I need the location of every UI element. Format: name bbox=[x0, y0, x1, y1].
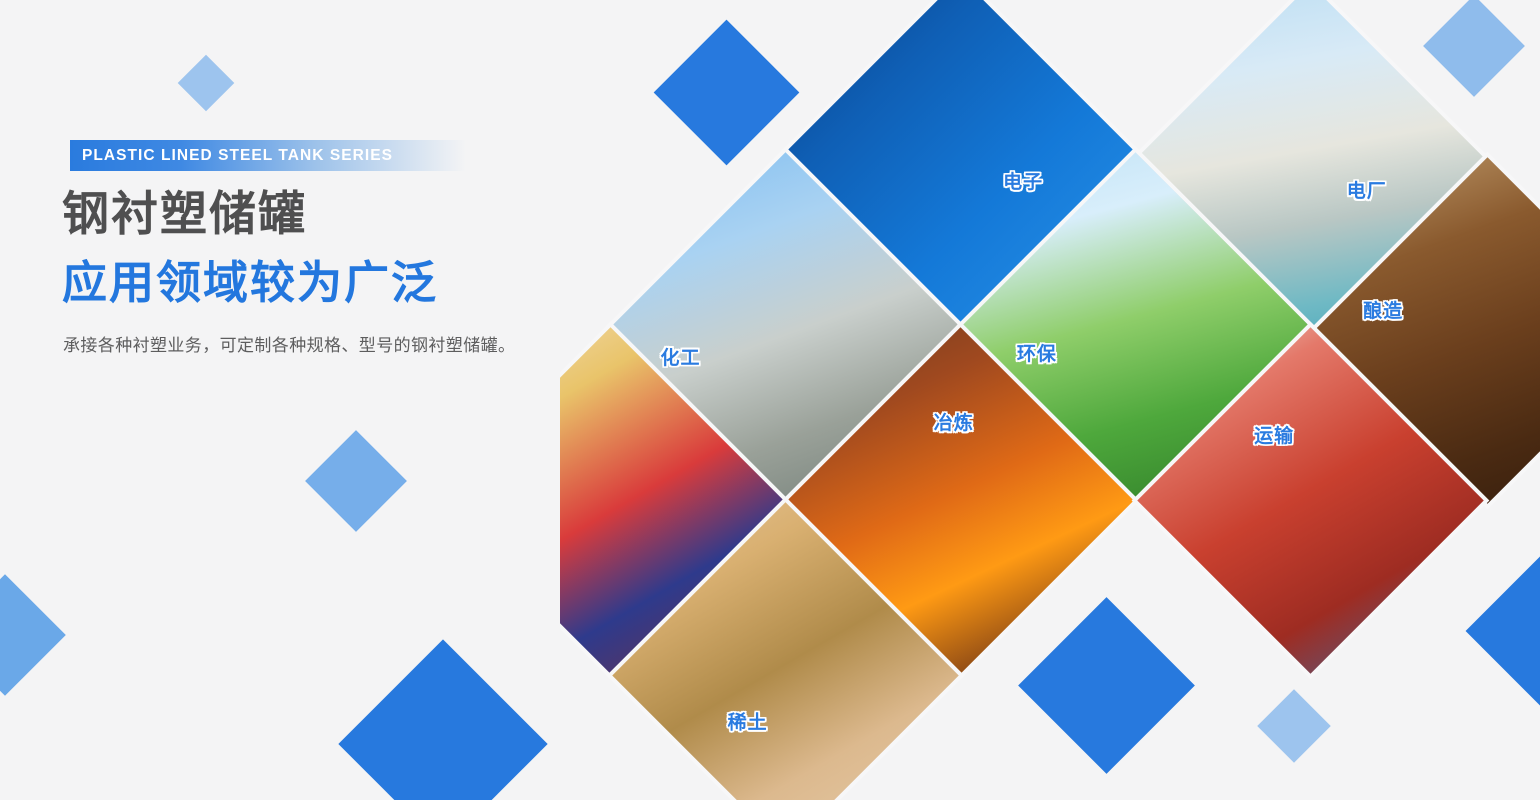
mosaic-tile-label-electronics: 电子 bbox=[1003, 167, 1043, 194]
mosaic-tile-label-environment: 环保 bbox=[1017, 339, 1057, 366]
mosaic-tile-label-transport: 运输 bbox=[1254, 421, 1294, 448]
headline-secondary: 应用领域较为广泛 bbox=[62, 258, 438, 308]
mosaic-tile-label-chemical: 化工 bbox=[660, 343, 700, 370]
mosaic-tile-label-smelting: 冶炼 bbox=[934, 408, 974, 435]
banner-stage: 电子化工电厂酿造环保冶炼制药稀土运输 PLASTIC LINED STEEL T… bbox=[0, 0, 1540, 800]
headline-primary: 钢衬塑储罐 bbox=[62, 188, 307, 240]
diamond-mosaic-clip: 电子化工电厂酿造环保冶炼制药稀土运输 bbox=[560, 0, 1540, 800]
eyebrow-badge: PLASTIC LINED STEEL TANK SERIES bbox=[70, 140, 466, 171]
hero-copy-block: PLASTIC LINED STEEL TANK SERIES 钢衬塑储罐 应用… bbox=[0, 0, 620, 800]
eyebrow-text: PLASTIC LINED STEEL TANK SERIES bbox=[70, 147, 393, 165]
mosaic-tile-label-brewing: 酿造 bbox=[1363, 296, 1403, 323]
mosaic-tile-label-power-plant: 电厂 bbox=[1347, 176, 1387, 203]
diamond-mosaic: 电子化工电厂酿造环保冶炼制药稀土运输 bbox=[560, 0, 1540, 800]
subtitle: 承接各种衬塑业务，可定制各种规格、型号的钢衬塑储罐。 bbox=[63, 331, 515, 356]
mosaic-tile-label-rare-earth: 稀土 bbox=[728, 708, 768, 735]
